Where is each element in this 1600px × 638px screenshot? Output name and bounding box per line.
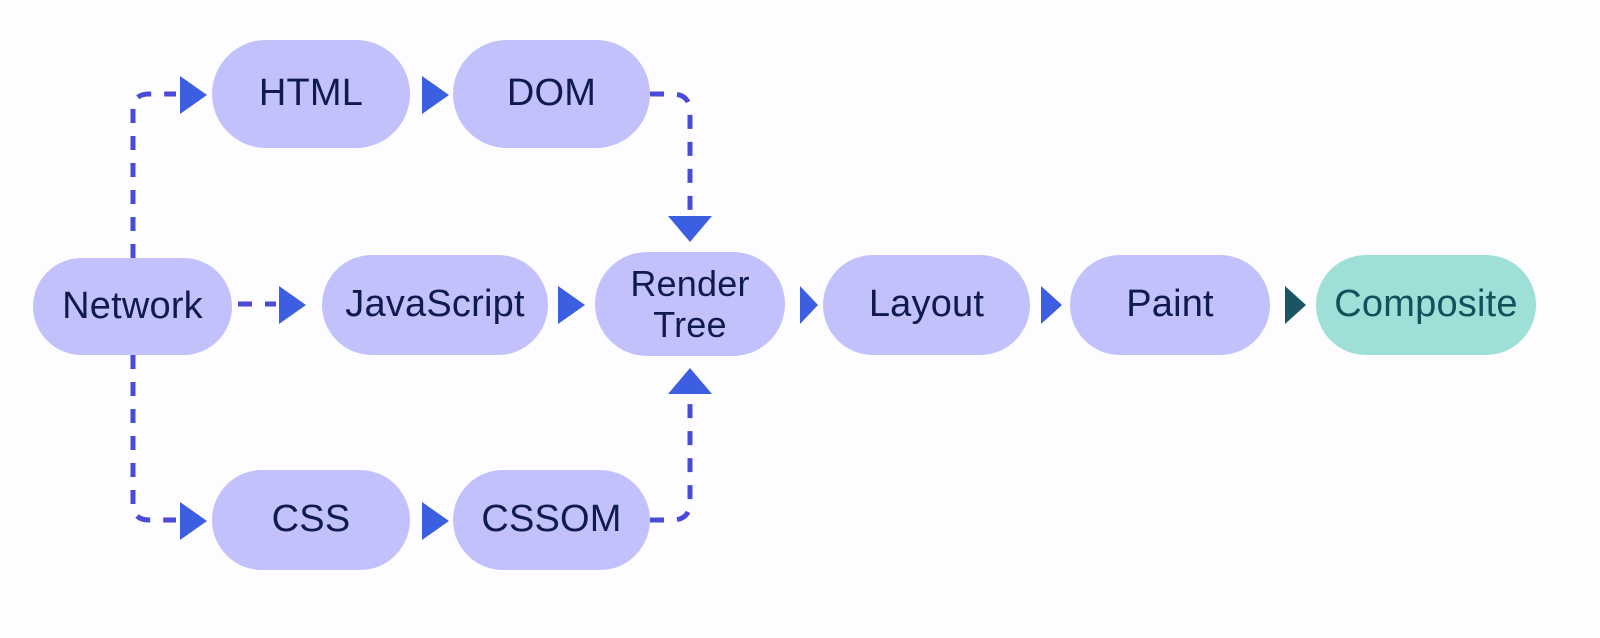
node-javascript-label: JavaScript xyxy=(345,283,524,326)
node-cssom[interactable]: CSSOM xyxy=(453,470,650,570)
node-paint-label: Paint xyxy=(1126,283,1214,326)
node-javascript[interactable]: JavaScript xyxy=(322,255,548,355)
node-html[interactable]: HTML xyxy=(212,40,410,148)
node-paint[interactable]: Paint xyxy=(1070,255,1270,355)
edge-rendertree-to-layout-arrowhead xyxy=(800,286,818,324)
edge-network-to-javascript-arrowhead xyxy=(279,286,306,324)
edge-html-to-dom-arrowhead xyxy=(422,76,449,114)
node-css[interactable]: CSS xyxy=(212,470,410,570)
node-network-label: Network xyxy=(62,285,203,328)
edge-dom-to-rendertree-path xyxy=(650,94,690,210)
node-cssom-label: CSSOM xyxy=(481,498,621,541)
edge-cssom-to-rendertree-path xyxy=(650,400,690,520)
node-render-tree[interactable]: Render Tree xyxy=(595,252,785,356)
edge-dom-to-rendertree-arrowhead xyxy=(668,216,712,242)
node-dom-label: DOM xyxy=(507,72,596,115)
node-network[interactable]: Network xyxy=(33,258,232,355)
node-layout[interactable]: Layout xyxy=(823,255,1030,355)
edge-network-to-html-arrowhead xyxy=(180,76,207,114)
node-layout-label: Layout xyxy=(869,283,984,326)
node-html-label: HTML xyxy=(259,72,363,115)
edge-network-to-css-arrowhead xyxy=(180,502,207,540)
edge-css-to-cssom-arrowhead xyxy=(422,502,449,540)
edge-network-to-html-path xyxy=(133,94,176,258)
edge-paint-to-composite-arrowhead xyxy=(1285,286,1306,324)
node-dom[interactable]: DOM xyxy=(453,40,650,148)
diagram-canvas: Network HTML DOM CSS CSSOM JavaScript Re… xyxy=(0,0,1600,638)
edge-cssom-to-rendertree-arrowhead xyxy=(668,368,712,394)
node-composite-label: Composite xyxy=(1334,283,1517,326)
edge-javascript-to-rendertree-arrowhead xyxy=(558,286,585,324)
edge-network-to-css-path xyxy=(133,355,176,520)
edge-layout-to-paint-arrowhead xyxy=(1041,286,1062,324)
node-composite[interactable]: Composite xyxy=(1316,255,1536,355)
node-render-tree-label: Render Tree xyxy=(630,263,749,345)
node-css-label: CSS xyxy=(272,498,351,541)
